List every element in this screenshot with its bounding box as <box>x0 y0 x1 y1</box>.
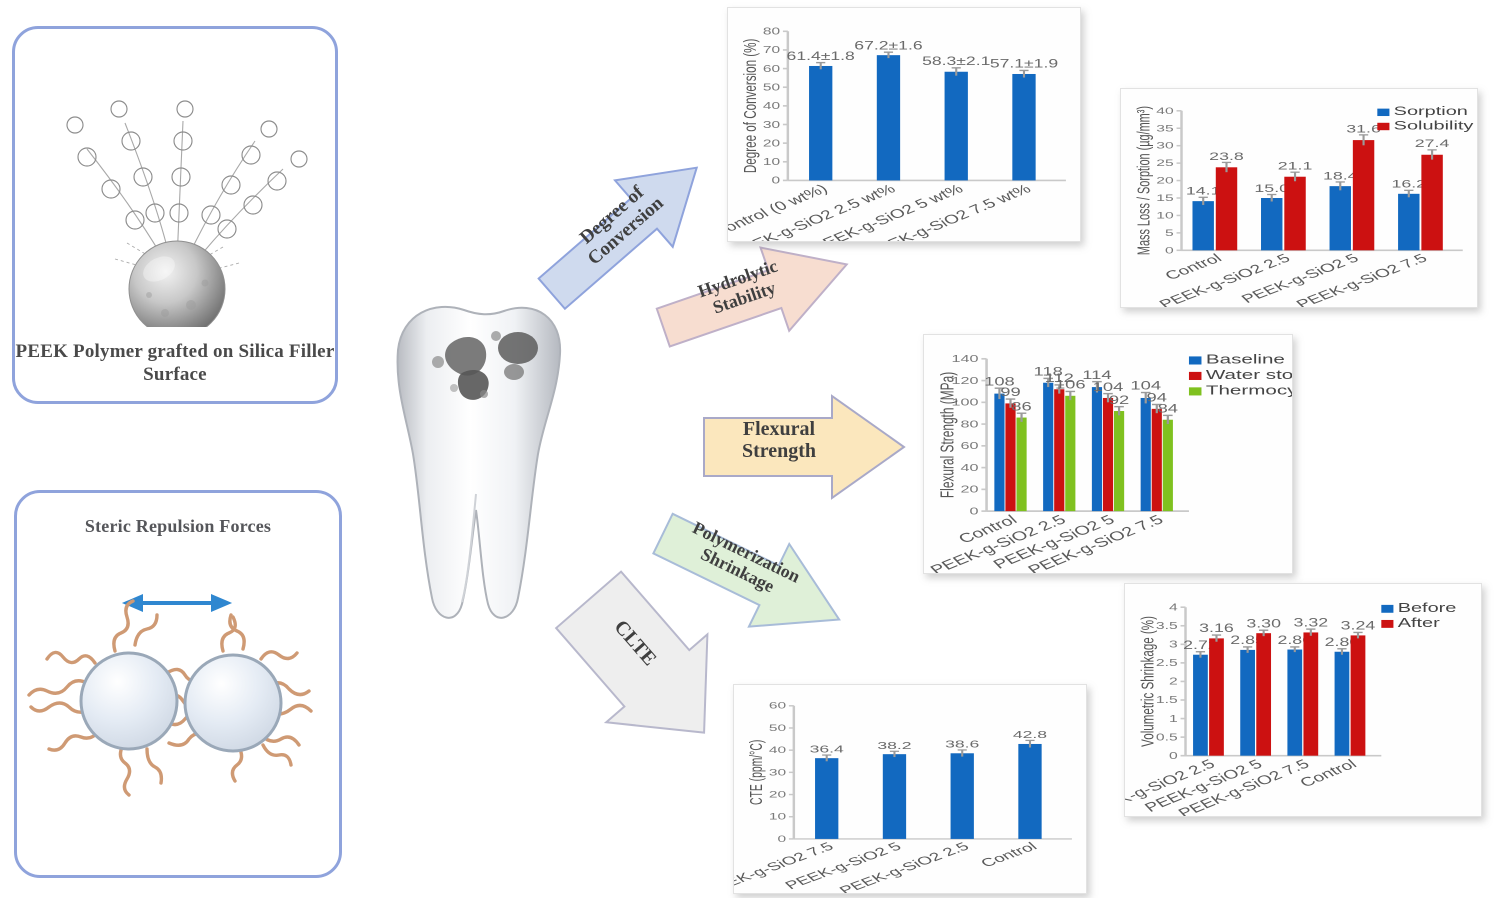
svg-text:38.2: 38.2 <box>877 740 911 752</box>
chart-flexural-strength: 020406080100120140Flexural Strength (MPa… <box>924 335 1292 573</box>
grafted-silica-illustration <box>15 37 335 327</box>
arrow-clte: CLTE <box>552 572 742 762</box>
svg-text:3.5: 3.5 <box>1156 620 1178 632</box>
svg-text:50: 50 <box>763 81 780 93</box>
svg-text:30: 30 <box>763 118 780 130</box>
svg-text:14.1: 14.1 <box>1186 186 1221 198</box>
svg-text:40: 40 <box>1156 105 1173 116</box>
chart-hydrolytic-stability: 0510152025303540Mass Loss / Sorption (µg… <box>1121 89 1477 307</box>
steric-repulsion-illustration <box>17 545 339 845</box>
svg-text:After: After <box>1398 615 1441 630</box>
svg-text:CTE (ppm/°C): CTE (ppm/°C) <box>748 740 767 805</box>
svg-text:3.30: 3.30 <box>1246 617 1281 630</box>
svg-text:20: 20 <box>769 789 786 800</box>
svg-text:80: 80 <box>960 418 978 430</box>
chart-polymerization-shrinkage: 00.511.522.533.54Volumetric Shrinkage (%… <box>1125 584 1481 816</box>
svg-text:Flexural Strength (MPa): Flexural Strength (MPa) <box>938 372 958 498</box>
svg-text:1.5: 1.5 <box>1156 694 1178 706</box>
chart-card-clte: 0102030405060CTE (ppm/°C)36.4PEEK-g-SiO2… <box>733 684 1087 894</box>
svg-text:70: 70 <box>763 44 780 56</box>
svg-text:0: 0 <box>771 174 780 186</box>
svg-text:18.4: 18.4 <box>1323 170 1358 182</box>
svg-text:3: 3 <box>1169 638 1178 650</box>
svg-text:60: 60 <box>769 700 786 711</box>
chart-card-flexural-strength: 020406080100120140Flexural Strength (MPa… <box>923 334 1293 574</box>
svg-text:Water storage: Water storage <box>1206 367 1292 382</box>
panel-peek-caption: PEEK Polymer grafted on Silica Filler Su… <box>15 340 335 388</box>
svg-text:92: 92 <box>1109 394 1129 407</box>
svg-text:1: 1 <box>1169 713 1178 725</box>
svg-text:42.8: 42.8 <box>1013 729 1047 741</box>
particle-left <box>81 653 177 749</box>
chart-card-hydrolytic-stability: 0510152025303540Mass Loss / Sorption (µg… <box>1120 88 1478 308</box>
svg-text:21.1: 21.1 <box>1278 161 1313 173</box>
svg-text:38.6: 38.6 <box>945 739 979 751</box>
chart-card-degree-of-conversion: 01020304050607080Degree of Conversion (%… <box>727 7 1081 242</box>
svg-text:106: 106 <box>1055 379 1086 392</box>
svg-text:0: 0 <box>969 505 979 517</box>
svg-text:0.5: 0.5 <box>1156 731 1178 743</box>
chart-clte: 0102030405060CTE (ppm/°C)36.4PEEK-g-SiO2… <box>734 685 1086 893</box>
svg-text:67.2±1.6: 67.2±1.6 <box>854 39 922 52</box>
svg-text:10: 10 <box>763 156 780 168</box>
svg-text:Solubility: Solubility <box>1394 118 1475 132</box>
svg-text:2.5: 2.5 <box>1156 657 1178 669</box>
svg-text:4: 4 <box>1169 601 1178 613</box>
chart-card-polymerization-shrinkage: 00.511.522.533.54Volumetric Shrinkage (%… <box>1124 583 1482 817</box>
svg-text:40: 40 <box>960 462 978 474</box>
panel-steric-repulsion: Steric Repulsion Forces <box>14 490 342 878</box>
svg-text:Baseline: Baseline <box>1206 351 1285 366</box>
arrow-flexural-strength: Flexural Strength <box>700 392 910 502</box>
svg-text:0: 0 <box>777 833 786 844</box>
svg-text:3.24: 3.24 <box>1341 620 1376 633</box>
svg-text:10: 10 <box>1156 210 1173 221</box>
svg-text:Thermocycling: Thermocycling <box>1206 382 1292 397</box>
svg-text:40: 40 <box>769 744 786 755</box>
svg-text:140: 140 <box>951 353 978 365</box>
svg-text:10: 10 <box>769 811 786 822</box>
repulsion-arrow <box>127 597 227 609</box>
svg-text:40: 40 <box>763 100 780 112</box>
svg-text:Degree of Conversion (%): Degree of Conversion (%) <box>741 39 761 174</box>
svg-text:35: 35 <box>1156 122 1173 133</box>
svg-text:86: 86 <box>1011 400 1031 413</box>
svg-text:15: 15 <box>1156 192 1173 203</box>
arrow-hydrolytic-stability: Hydrolytic Stability <box>648 228 863 363</box>
svg-text:58.3±2.1: 58.3±2.1 <box>922 55 990 68</box>
svg-text:Sorption: Sorption <box>1394 104 1468 118</box>
svg-text:50: 50 <box>769 722 786 733</box>
particle-right <box>185 655 281 751</box>
svg-text:60: 60 <box>960 440 978 452</box>
svg-text:80: 80 <box>763 25 780 37</box>
svg-text:99: 99 <box>1000 386 1020 399</box>
svg-text:60: 60 <box>763 62 780 74</box>
svg-text:30: 30 <box>769 767 786 778</box>
svg-text:Mass Loss / Sorption (µg/mm³): Mass Loss / Sorption (µg/mm³) <box>1135 106 1154 255</box>
svg-text:36.4: 36.4 <box>810 744 844 756</box>
svg-text:20: 20 <box>763 137 780 149</box>
svg-text:30: 30 <box>1156 140 1173 151</box>
svg-text:31.6: 31.6 <box>1346 123 1381 135</box>
svg-text:3.32: 3.32 <box>1294 616 1329 629</box>
svg-text:3.16: 3.16 <box>1199 622 1234 635</box>
svg-text:2: 2 <box>1169 675 1178 687</box>
chart-degree-of-conversion: 01020304050607080Degree of Conversion (%… <box>728 8 1080 241</box>
graphical-abstract-canvas: PEEK Polymer grafted on Silica Filler Su… <box>0 0 1500 898</box>
svg-text:57.1±1.9: 57.1±1.9 <box>990 58 1058 71</box>
svg-text:23.8: 23.8 <box>1209 151 1244 163</box>
svg-text:Volumetric Shrinkage (%): Volumetric Shrinkage (%) <box>1138 616 1158 747</box>
svg-text:25: 25 <box>1156 157 1173 168</box>
svg-text:Control: Control <box>978 840 1041 870</box>
svg-text:84: 84 <box>1158 403 1179 416</box>
svg-text:Before: Before <box>1398 600 1457 615</box>
svg-text:5: 5 <box>1165 227 1174 238</box>
svg-text:20: 20 <box>1156 175 1173 186</box>
svg-text:16.2: 16.2 <box>1391 179 1426 191</box>
panel-peek-grafted-silica: PEEK Polymer grafted on Silica Filler Su… <box>12 26 338 404</box>
panel-steric-caption: Steric Repulsion Forces <box>17 515 339 538</box>
svg-text:20: 20 <box>960 483 978 495</box>
svg-text:104: 104 <box>1093 381 1124 394</box>
svg-text:27.4: 27.4 <box>1415 138 1450 150</box>
svg-text:61.4±1.8: 61.4±1.8 <box>787 50 855 63</box>
svg-text:0: 0 <box>1165 245 1174 256</box>
svg-text:15.0: 15.0 <box>1254 183 1289 195</box>
svg-text:0: 0 <box>1169 750 1178 762</box>
